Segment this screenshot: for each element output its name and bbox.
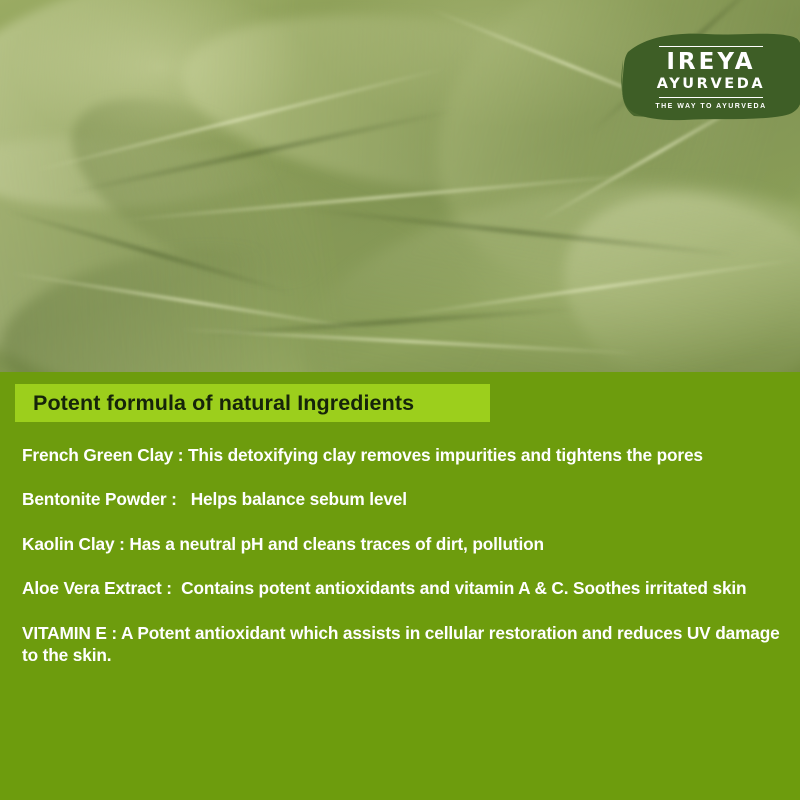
logo-top-rule xyxy=(659,46,763,48)
clay-ridge xyxy=(12,272,368,331)
clay-stroke-shadow xyxy=(44,61,375,318)
brand-logo: IREYA AYURVEDA THE WAY TO AYURVEDA xyxy=(620,30,800,122)
logo-bottom-rule xyxy=(659,97,763,99)
ingredients-panel: Potent formula of natural Ingredients Fr… xyxy=(0,372,800,800)
list-item: Bentonite Powder : Helps balance sebum l… xyxy=(22,488,782,510)
ingredients-list: French Green Clay : This detoxifying cla… xyxy=(22,444,782,667)
clay-crevice xyxy=(64,108,456,195)
logo-text-block: IREYA AYURVEDA THE WAY TO AYURVEDA xyxy=(620,30,800,122)
marketing-graphic-canvas: IREYA AYURVEDA THE WAY TO AYURVEDA Poten… xyxy=(0,0,800,800)
clay-crevice xyxy=(5,209,294,296)
list-item: French Green Clay : This detoxifying cla… xyxy=(22,444,782,466)
list-item: VITAMIN E : A Potent antioxidant which a… xyxy=(22,622,782,667)
logo-sub-brand: AYURVEDA xyxy=(657,77,765,92)
list-item: Aloe Vera Extract : Contains potent anti… xyxy=(22,577,782,599)
list-item: Kaolin Clay : Has a neutral pH and clean… xyxy=(22,533,782,555)
heading-highlight-box: Potent formula of natural Ingredients xyxy=(15,384,490,422)
clay-ridge xyxy=(402,258,799,317)
logo-tagline: THE WAY TO AYURVEDA xyxy=(655,103,766,110)
logo-brand-name: IREYA xyxy=(666,51,755,74)
clay-crevice xyxy=(301,207,739,257)
page-title: Potent formula of natural Ingredients xyxy=(15,391,414,416)
